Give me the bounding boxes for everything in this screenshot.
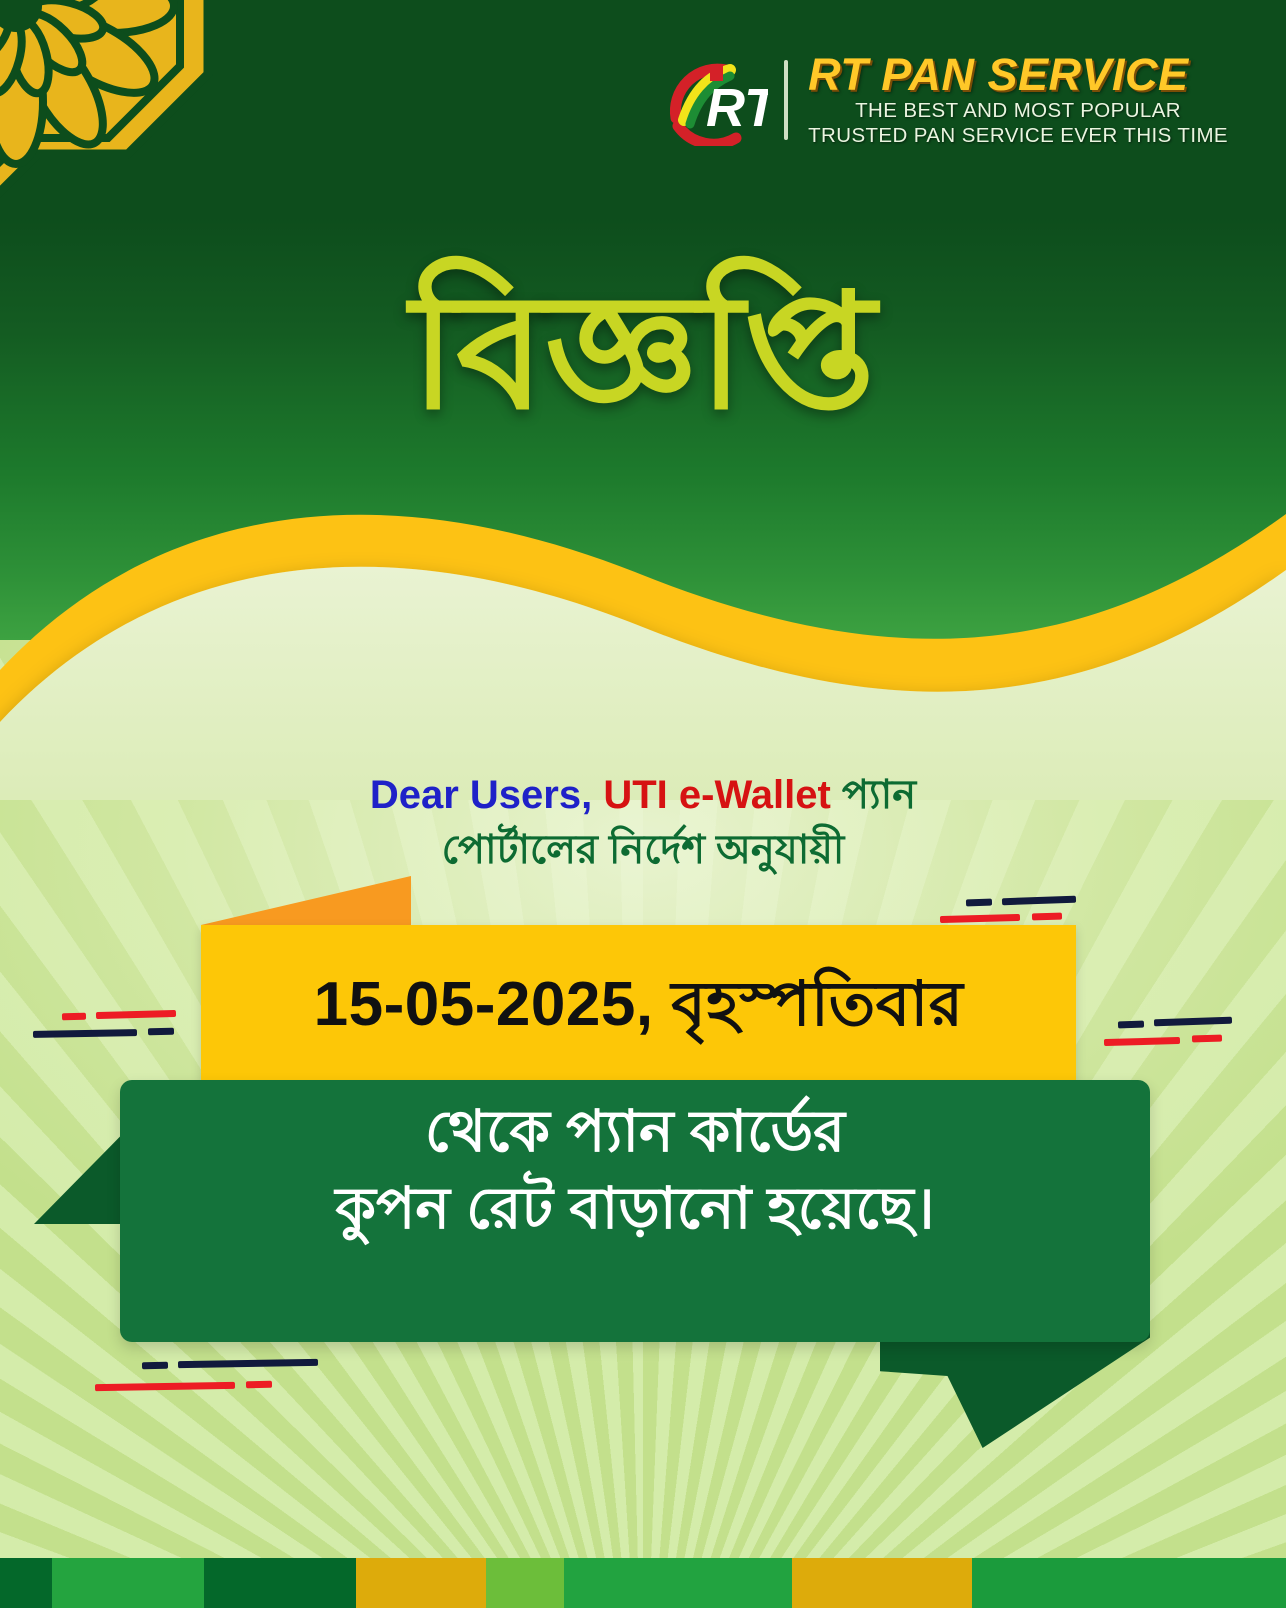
dash-mark-mid-right-navy-a (966, 899, 992, 907)
mandala-star-icon (0, 0, 268, 254)
rt-swoosh-logo-icon: RT. (664, 54, 768, 146)
bottom-strip-segment (972, 1558, 1286, 1608)
intro-greeting: Dear Users, (370, 773, 592, 817)
brand-name: RT PAN SERVICE (808, 52, 1188, 98)
date-banner: 15-05-2025, বৃহস্পতিবার (201, 925, 1076, 1085)
bottom-strip-segment (204, 1558, 356, 1608)
announcement-ribbon: থেকে প্যান কার্ডের কুপন রেট বাড়ানো হয়ে… (0, 1080, 1286, 1420)
wave-divider (0, 470, 1286, 800)
ribbon-text-line2: কুপন রেট বাড়ানো হয়েছে। (120, 1171, 1150, 1248)
date-banner-text: 15-05-2025, বৃহস্পতিবার (314, 974, 964, 1036)
brand-tagline-line2: TRUSTED PAN SERVICE EVER THIS TIME (808, 123, 1228, 148)
ribbon-text-line1: থেকে প্যান কার্ডের (120, 1094, 1150, 1171)
dash-mark-left-red-a (62, 1013, 86, 1021)
intro-line2: পোর্টালের নির্দেশ অনুযায়ী (442, 828, 845, 872)
intro-line1-suffix: প্যান (842, 773, 916, 817)
logo-divider (784, 60, 788, 140)
dash-mark-right-navy-a (1118, 1021, 1144, 1029)
intro-product-name: UTI e-Wallet (603, 773, 830, 817)
bottom-strip-segment (792, 1558, 972, 1608)
page-title: বিজ্ঞপ্তি (0, 272, 1286, 432)
bottom-strip-segment (486, 1558, 564, 1608)
dash-mark-right-red-b (1192, 1035, 1222, 1043)
bottom-strip-segment (564, 1558, 792, 1608)
svg-text:RT.: RT. (706, 78, 768, 138)
bottom-strip-segment (0, 1558, 52, 1608)
notice-poster: RT. RT PAN SERVICE THE BEST AND MOST POP… (0, 0, 1286, 1608)
bottom-color-strip (0, 1558, 1286, 1608)
dash-mark-left-navy-b (148, 1028, 174, 1035)
bottom-strip-segment (356, 1558, 486, 1608)
intro-paragraph: Dear Users, UTI e-Wallet প্যান পোর্টালের… (0, 770, 1286, 876)
brand-tagline-line1: THE BEST AND MOST POPULAR (808, 98, 1228, 123)
brand-logo-block: RT. RT PAN SERVICE THE BEST AND MOST POP… (664, 52, 1228, 148)
dash-mark-mid-right-red-b (1032, 913, 1062, 921)
bottom-strip-segment (52, 1558, 204, 1608)
